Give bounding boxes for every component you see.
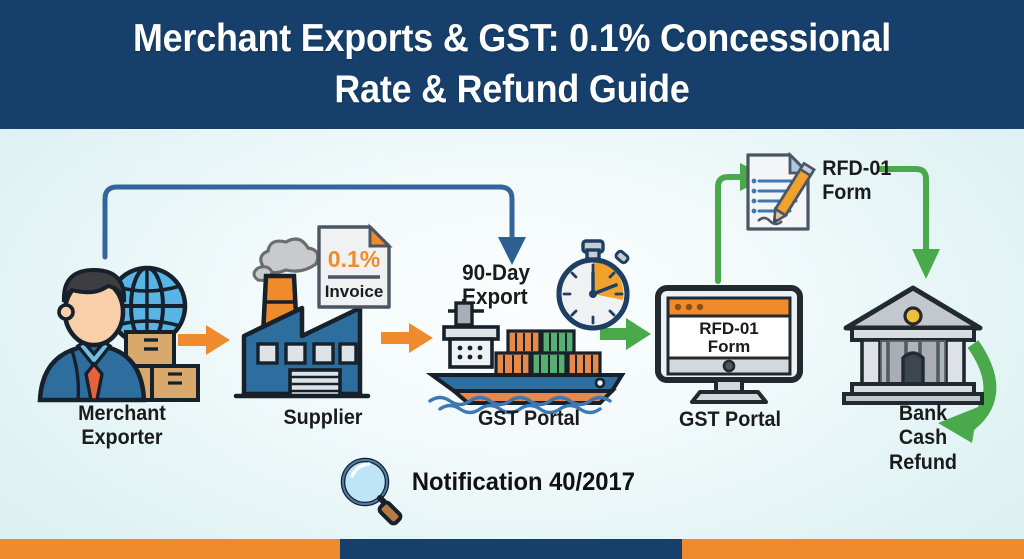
node-label-ship: GST Portal [430, 407, 627, 431]
document-pencil-icon [742, 151, 814, 233]
cargo-ship-icon [424, 291, 634, 411]
diagram-canvas: Merchant Exporter [0, 129, 1024, 539]
flow-node-ship[interactable]: 90-Day Export [424, 229, 634, 464]
flow-node-merchant-exporter[interactable]: Merchant Exporter [22, 254, 222, 464]
magnifier-icon [336, 454, 406, 524]
notification-callout[interactable]: Notification 40/2017 [336, 454, 696, 524]
node-label-gst-portal: GST Portal [645, 408, 814, 432]
desktop-monitor-icon: RFD-01 Form [640, 284, 820, 408]
footer-center-segment [340, 539, 682, 559]
node-label-merchant-exporter: Merchant Exporter [28, 402, 216, 449]
rfd-form-callout[interactable]: RFD-01 Form [742, 151, 927, 236]
invoice-document-icon: 0.1% Invoice [314, 223, 394, 311]
invoice-caption-text: Invoice [325, 282, 384, 301]
header-banner: Merchant Exports & GST: 0.1% Concessiona… [0, 0, 1024, 129]
bank-building-icon [838, 284, 1024, 406]
flow-node-gst-portal[interactable]: RFD-01 Form GST Portal [640, 284, 820, 464]
merchant-exporter-icon [22, 254, 222, 404]
monitor-screen-line1: RFD-01 [699, 319, 759, 338]
flow-node-supplier[interactable]: 0.1% Invoice Supplier [228, 224, 418, 464]
rfd-form-label: RFD-01 Form [822, 157, 891, 205]
invoice-rate-text: 0.1% [328, 246, 380, 272]
infographic-root: Merchant Exports & GST: 0.1% Concessiona… [0, 0, 1024, 559]
monitor-screen-line2: Form [708, 337, 751, 356]
node-label-bank-cash-refund: Bank Cash Refund [834, 402, 1013, 475]
notification-label: Notification 40/2017 [412, 468, 635, 497]
node-label-supplier: Supplier [234, 406, 413, 430]
footer-bar [0, 539, 1024, 559]
flow-node-bank-cash-refund[interactable]: Bank Cash Refund [828, 284, 1018, 499]
page-title: Merchant Exports & GST: 0.1% Concessiona… [133, 14, 891, 115]
